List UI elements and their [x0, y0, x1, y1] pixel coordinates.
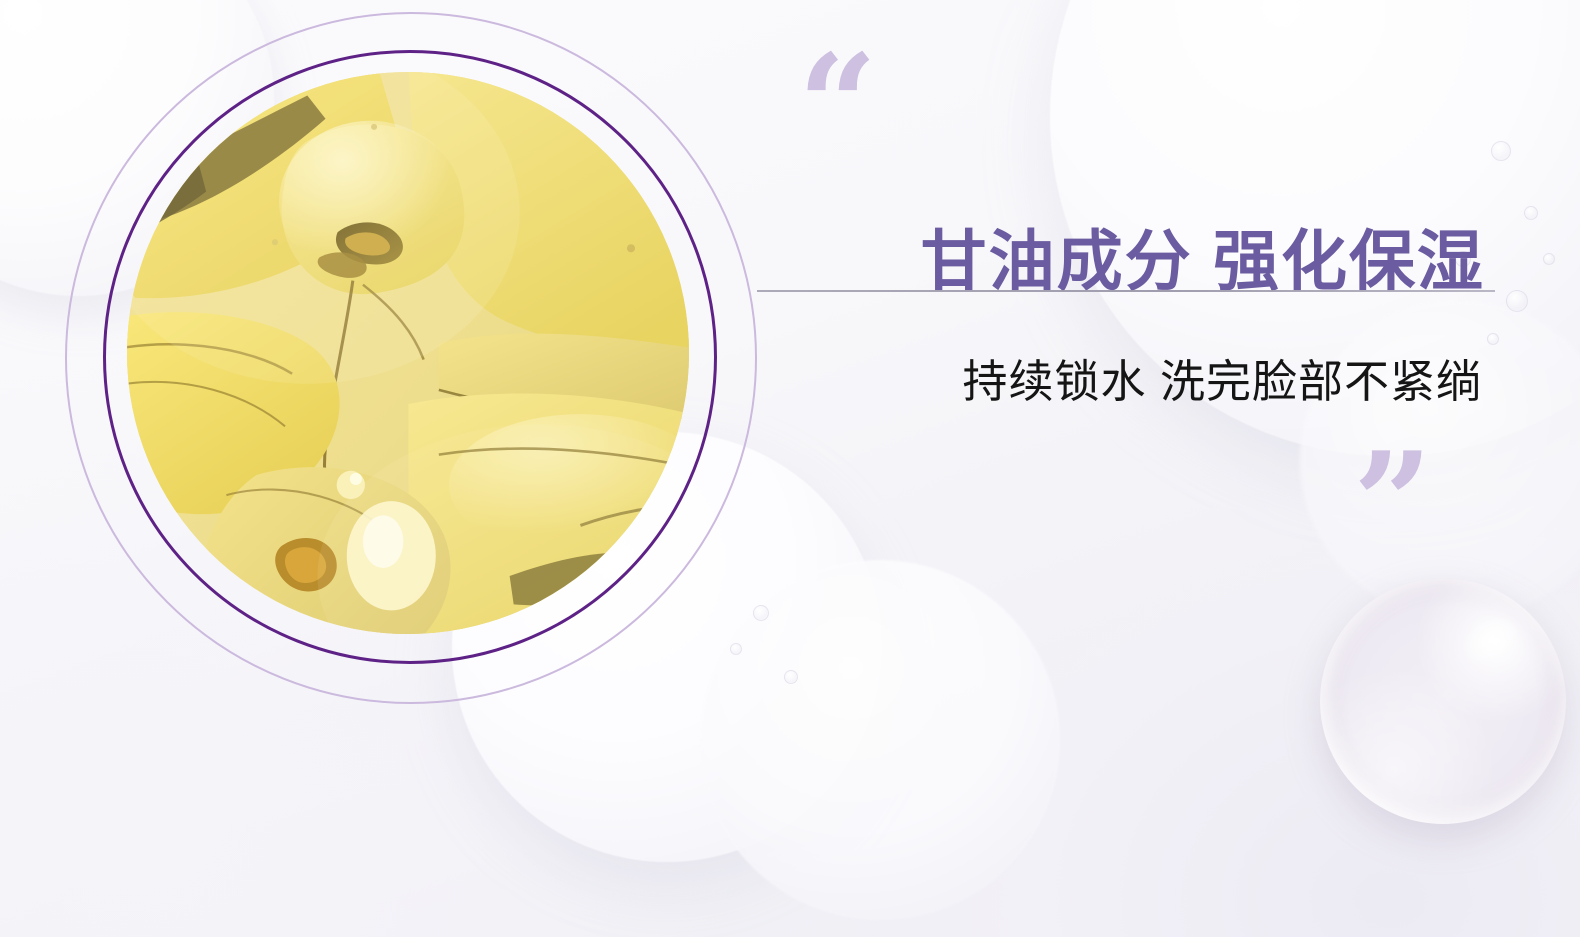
page-title: 甘油成分 强化保湿: [760, 226, 1485, 297]
mini-droplet: [1487, 333, 1499, 345]
mini-droplet: [1491, 141, 1511, 161]
mini-droplet: [784, 670, 798, 684]
title-divider: [757, 290, 1495, 292]
quote-close-icon: ”: [1353, 446, 1426, 559]
oil-texture-illustration: [127, 72, 689, 634]
mini-droplet: [1506, 290, 1528, 312]
glossy-water-droplet-rim: [1320, 578, 1566, 824]
page-subtitle: 持续锁水 洗完脸部不紧绱: [760, 355, 1482, 408]
product-medallion: [65, 12, 765, 712]
bubble-mid-right: [1300, 300, 1580, 620]
product-feature-banner: “ 甘油成分 强化保湿 持续锁水 洗完脸部不紧绱 ”: [0, 0, 1580, 937]
mini-droplet: [1524, 206, 1538, 220]
glycerin-oil-macro-photo: [127, 72, 689, 634]
mini-droplet: [1543, 253, 1555, 265]
quote-open-icon: “: [798, 48, 871, 161]
